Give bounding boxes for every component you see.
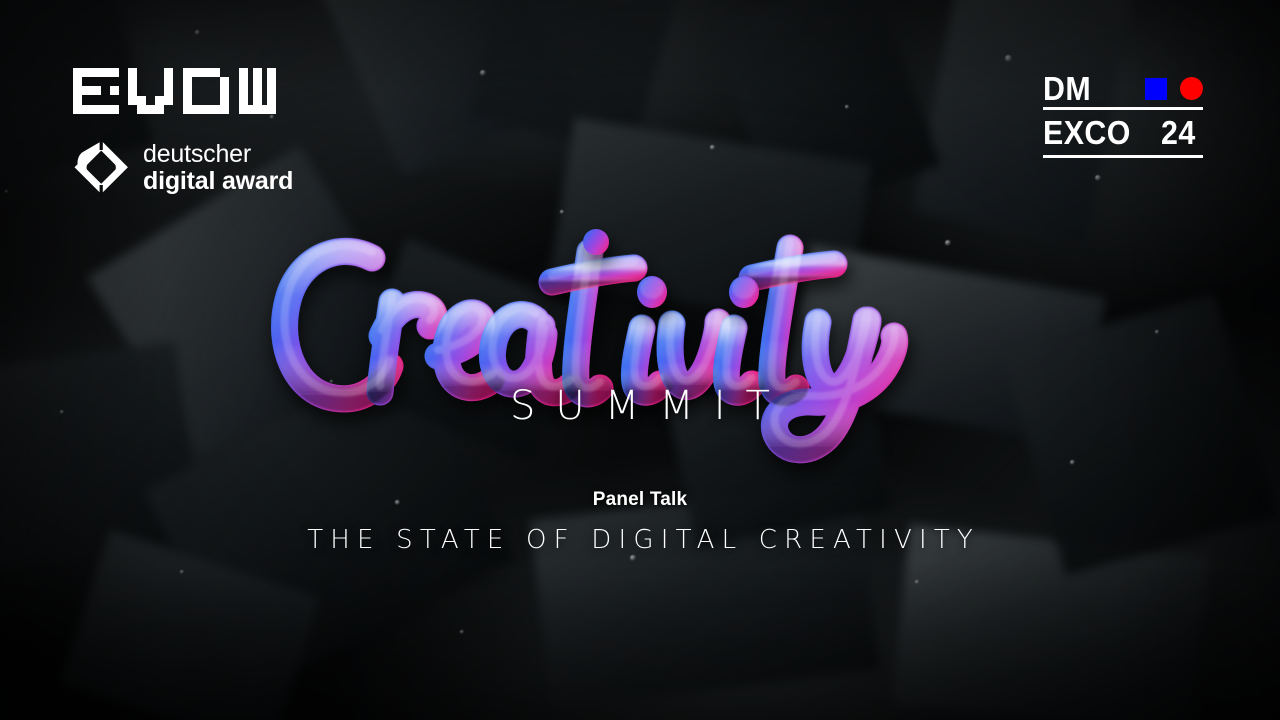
diamond-split-icon <box>73 139 130 196</box>
bvdw-logo <box>73 68 276 114</box>
red-circle-icon <box>1180 77 1203 100</box>
dda-line-2: digital award <box>143 169 293 194</box>
session-kicker: Panel Talk <box>0 489 1280 511</box>
dmexco-year-text: 24 <box>1161 116 1196 151</box>
deutscher-digital-award-text: deutscher digital award <box>143 142 293 194</box>
left-logo-group: deutscher digital award <box>73 68 293 196</box>
dmexco-rule-bottom <box>1043 155 1203 158</box>
summit-subtitle: SUMMIT <box>0 383 1280 429</box>
dmexco-shapes <box>1145 77 1203 100</box>
dmexco-bottom-row: EXCO 24 <box>1043 110 1203 155</box>
dmexco-logo: DM EXCO 24 <box>1043 70 1203 158</box>
blue-square-icon <box>1145 78 1167 100</box>
session-headline: THE STATE OF DIGITAL CREATIVITY <box>0 525 1280 555</box>
title-card-stage: deutscher digital award DM EXCO 24 <box>0 0 1280 720</box>
dmexco-top-row: DM <box>1043 70 1203 107</box>
dmexco-exco-text: EXCO <box>1043 116 1131 151</box>
dda-line-1: deutscher <box>143 142 293 167</box>
deutscher-digital-award-logo: deutscher digital award <box>73 139 293 196</box>
dmexco-dm-text: DM <box>1043 72 1091 105</box>
